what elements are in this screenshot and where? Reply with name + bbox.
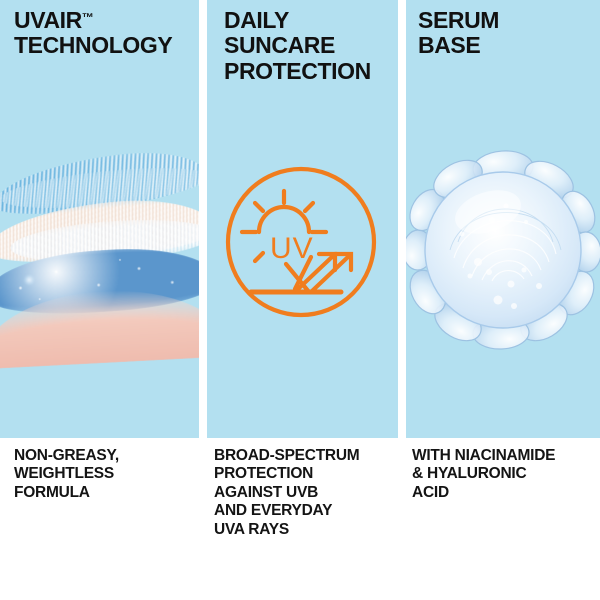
panel-title-uvair-line2: TECHNOLOGY — [14, 32, 172, 58]
panel-title-uvair-line1: UVAIR — [14, 7, 82, 33]
caption-row: NON-GREASY, WEIGHTLESS FORMULA BROAD-SPE… — [0, 438, 600, 600]
panel-serum-base: SERUM BASE — [406, 0, 600, 438]
uv-icon-svg: UV — [223, 162, 383, 322]
panel-title-daily-suncare-protection: DAILY SUNCARE PROTECTION — [224, 8, 392, 84]
caption-serum-base: WITH NIACINAMIDE & HYALURONIC ACID — [412, 447, 600, 502]
product-benefits-infographic: UVAIR™TECHNOLOGY DAILY SUNCARE PROTECTIO… — [0, 0, 600, 600]
trademark-symbol: ™ — [82, 10, 94, 24]
layered-fabric-beads-illustration — [0, 155, 199, 355]
panel-title-serum-base: SERUM BASE — [418, 8, 594, 59]
uv-label: UV — [270, 232, 314, 265]
sun-half-disc-icon — [259, 207, 309, 232]
sun-ray-lower-left-icon — [255, 253, 263, 261]
uv-sun-rays-icon: UV — [207, 162, 398, 322]
sun-ray-upper-right-icon — [305, 203, 313, 211]
serum-droplet-bubbles — [406, 150, 600, 350]
panel-daily-suncare-protection: DAILY SUNCARE PROTECTION — [207, 0, 398, 438]
panel-row: UVAIR™TECHNOLOGY DAILY SUNCARE PROTECTIO… — [0, 0, 600, 438]
panel-uvair-technology: UVAIR™TECHNOLOGY — [0, 0, 199, 438]
panel-title-uvair-technology: UVAIR™TECHNOLOGY — [14, 8, 193, 59]
caption-daily-suncare-protection: BROAD-SPECTRUM PROTECTION AGAINST UVB AN… — [214, 447, 404, 539]
sun-ray-upper-left-icon — [255, 203, 263, 211]
serum-droplet-svg — [406, 150, 600, 350]
caption-uvair-technology: NON-GREASY, WEIGHTLESS FORMULA — [14, 447, 199, 502]
